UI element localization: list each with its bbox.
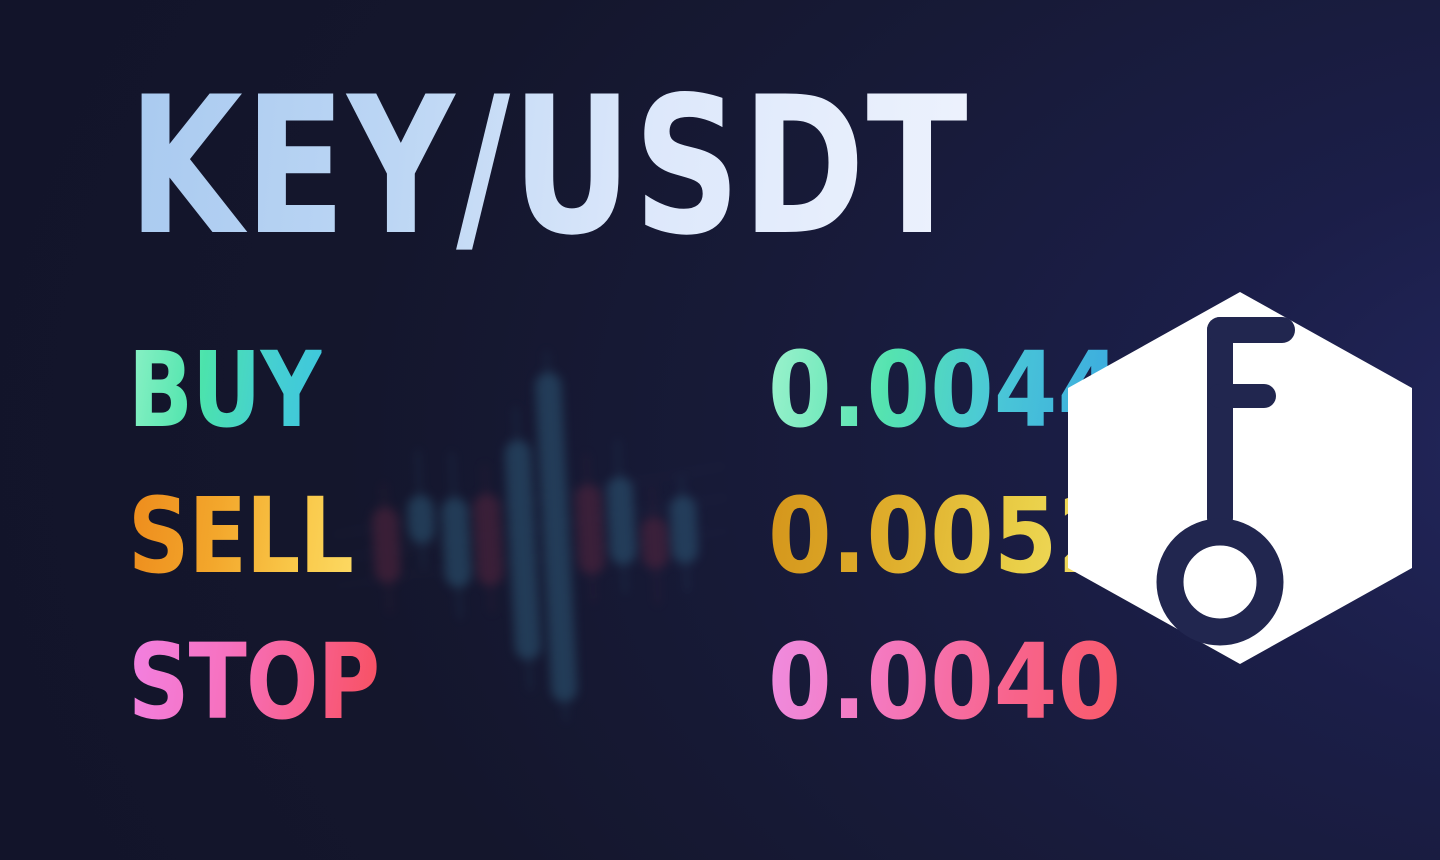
signal-row-buy: BUY 0.0044 <box>128 338 1040 484</box>
signal-row-sell: SELL 0.0052 <box>128 484 1040 630</box>
logo-svg <box>1068 292 1412 664</box>
trading-signal-card: KEY/USDT BUY 0.0044 SELL 0.0052 STOP 0.0… <box>0 0 1440 860</box>
page-title: KEY/USDT <box>128 72 969 262</box>
signal-label-sell: SELL <box>128 484 353 588</box>
signal-label-stop: STOP <box>128 630 379 734</box>
hexagon-shape <box>1068 292 1412 664</box>
signal-row-stop: STOP 0.0040 <box>128 630 1040 776</box>
selfkey-hexagon-key-icon <box>1068 292 1412 664</box>
signal-list: BUY 0.0044 SELL 0.0052 STOP 0.0040 <box>128 338 1040 776</box>
signal-label-buy: BUY <box>128 338 322 442</box>
